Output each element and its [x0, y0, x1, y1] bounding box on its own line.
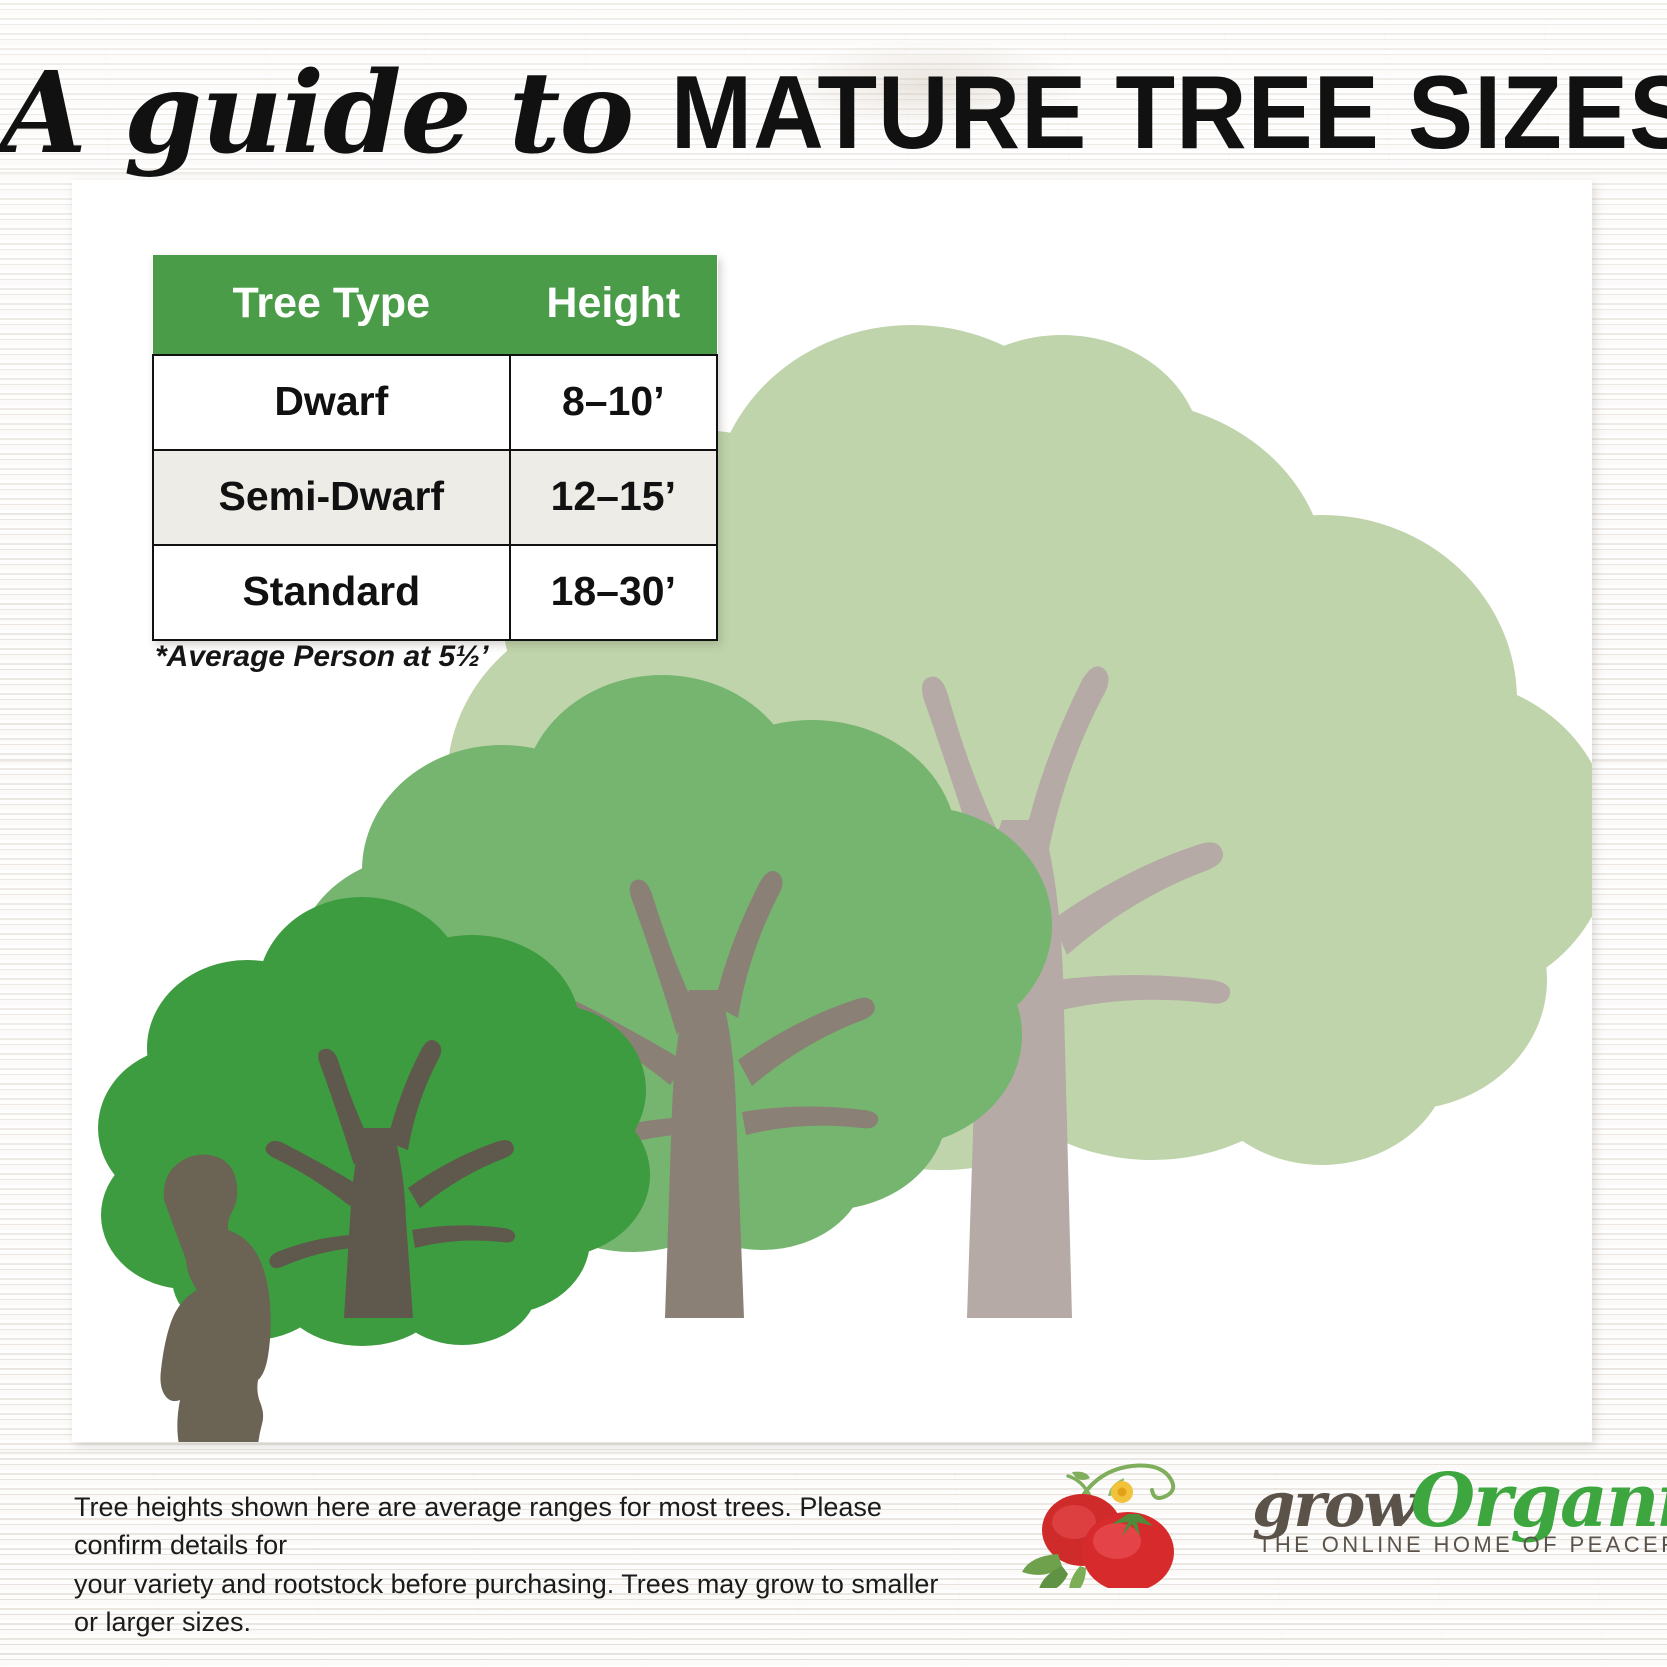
brand-logo[interactable]: growOrganic.COM THE ONLINE HOME OF PEACE…: [1020, 1440, 1620, 1590]
title-block-part: MATURE TREE SIZES: [670, 54, 1667, 173]
page-title: A guide to MATURE TREE SIZES: [0, 48, 1667, 179]
cell-height: 8–10’: [510, 355, 717, 450]
logo-grow-text: grow: [1252, 1468, 1415, 1541]
table-header-row: Tree Type Height: [153, 255, 717, 355]
table-footnote: *Average Person at 5½’: [155, 640, 489, 674]
cell-tree-type: Standard: [153, 545, 510, 640]
tomato-illustration-icon: [1020, 1448, 1245, 1588]
cell-tree-type: Semi-Dwarf: [153, 450, 510, 545]
title-script-part: A guide to: [0, 48, 633, 179]
cell-height: 18–30’: [510, 545, 717, 640]
logo-tagline: THE ONLINE HOME OF PEACEFUL VALLEY: [1258, 1532, 1667, 1558]
table-row: Dwarf 8–10’: [153, 355, 717, 450]
footer-line-1: Tree heights shown here are average rang…: [74, 1488, 954, 1565]
column-header-height: Height: [510, 255, 717, 355]
tree-size-table: Tree Type Height Dwarf 8–10’ Semi-Dwarf …: [152, 255, 718, 641]
column-header-tree-type: Tree Type: [153, 255, 510, 355]
footer-disclaimer: Tree heights shown here are average rang…: [74, 1488, 954, 1641]
table-row: Semi-Dwarf 12–15’: [153, 450, 717, 545]
table-row: Standard 18–30’: [153, 545, 717, 640]
cell-tree-type: Dwarf: [153, 355, 510, 450]
cell-height: 12–15’: [510, 450, 717, 545]
blossom-icon: [1111, 1481, 1133, 1503]
footer-line-2: your variety and rootstock before purcha…: [74, 1565, 954, 1642]
